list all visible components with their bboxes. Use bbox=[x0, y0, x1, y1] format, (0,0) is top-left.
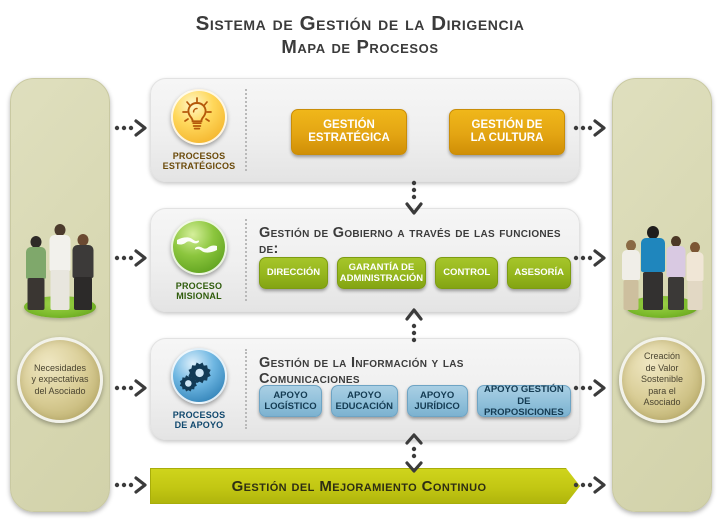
badge-line: Creación bbox=[641, 351, 683, 363]
down-dotted-arrow bbox=[403, 178, 425, 220]
band-misional-process: PROCESO MISIONAL Gestión de Gobierno a t… bbox=[150, 208, 580, 312]
band-strategic-caption: PROCESOS ESTRATÉGICOS bbox=[163, 151, 236, 172]
pill-line: LOGÍSTICO bbox=[264, 401, 316, 412]
band-support-content: Gestión de la Información y las Comunica… bbox=[253, 339, 571, 439]
caption-line: DE APOYO bbox=[173, 420, 226, 430]
title-line-1: Sistema de Gestión de la Dirigencia bbox=[0, 12, 720, 36]
strategic-pill-row: GESTIÓN ESTRATÉGICA GESTIÓN DE LA CULTUR… bbox=[259, 109, 571, 155]
up-dotted-arrow bbox=[403, 303, 425, 345]
pill-line: ESTRATÉGICA bbox=[308, 132, 390, 145]
person-figure bbox=[685, 242, 704, 310]
pill-line: DE PROPOSICIONES bbox=[478, 396, 570, 418]
caption-line: PROCESOS bbox=[163, 151, 236, 161]
pill-line: APOYO bbox=[335, 390, 393, 401]
pill-line: ADMINISTRACIÓN bbox=[340, 273, 423, 284]
improvement-bar: Gestión del Mejoramiento Continuo bbox=[150, 468, 580, 504]
person-figure bbox=[621, 240, 641, 310]
pill-line: JURÍDICO bbox=[414, 401, 459, 412]
band-misional-caption: PROCESO MISIONAL bbox=[176, 281, 222, 302]
pill-apoyo-educacion[interactable]: APOYO EDUCACIÓN bbox=[331, 385, 398, 417]
handshake-icon bbox=[171, 219, 227, 275]
pill-line: GARANTÍA DE bbox=[340, 262, 423, 273]
pill-direccion[interactable]: DIRECCIÓN bbox=[259, 257, 328, 289]
support-pill-row: APOYO LOGÍSTICO APOYO EDUCACIÓN APOYO JU… bbox=[259, 385, 571, 417]
pill-control[interactable]: CONTROL bbox=[435, 257, 499, 289]
person-figure bbox=[25, 236, 47, 310]
pill-garantia-de-administracion[interactable]: GARANTÍA DE ADMINISTRACIÓN bbox=[337, 257, 426, 289]
pill-line: APOYO bbox=[264, 390, 316, 401]
pill-line: CONTROL bbox=[443, 267, 490, 278]
pill-asesoria[interactable]: ASESORÍA bbox=[507, 257, 571, 289]
pill-line: ASESORÍA bbox=[514, 267, 564, 278]
band-strategic-label-area: PROCESOS ESTRATÉGICOS bbox=[151, 79, 247, 181]
caption-line: ESTRATÉGICOS bbox=[163, 161, 236, 171]
badge-line: Asociado bbox=[641, 397, 683, 409]
person-figure bbox=[71, 234, 94, 310]
outbound-arrow-improvement bbox=[571, 474, 611, 496]
pill-line: DIRECCIÓN bbox=[267, 267, 320, 278]
pill-line: LA CULTURA bbox=[471, 132, 544, 145]
caption-line: MISIONAL bbox=[176, 291, 222, 301]
lightbulb-icon bbox=[171, 89, 227, 145]
pill-line: APOYO GESTIÓN bbox=[478, 384, 570, 395]
badge-line: y expectativas bbox=[31, 374, 88, 386]
inbound-arrow-improvement bbox=[112, 474, 152, 496]
gears-icon bbox=[171, 348, 227, 404]
badge-line: del Asociado bbox=[31, 386, 88, 398]
page-title: Sistema de Gestión de la Dirigencia Mapa… bbox=[0, 12, 720, 57]
people-group-icon bbox=[11, 204, 109, 324]
misional-heading: Gestión de Gobierno a través de las func… bbox=[259, 225, 567, 257]
band-strategic-processes: PROCESOS ESTRATÉGICOS GESTIÓN ESTRATÉGIC… bbox=[150, 78, 580, 182]
up-down-dotted-arrow bbox=[403, 432, 425, 474]
right-badge: Creación de Valor Sostenible para el Aso… bbox=[619, 337, 705, 423]
badge-line: para el bbox=[641, 386, 683, 398]
right-output-panel: Creación de Valor Sostenible para el Aso… bbox=[612, 78, 712, 512]
improvement-bar-label: Gestión del Mejoramiento Continuo bbox=[232, 478, 487, 495]
outbound-arrow-strategic bbox=[571, 117, 611, 139]
outbound-arrow-support bbox=[571, 377, 611, 399]
band-strategic-content: GESTIÓN ESTRATÉGICA GESTIÓN DE LA CULTUR… bbox=[253, 79, 571, 181]
band-support-label-area: PROCESOS DE APOYO bbox=[151, 339, 247, 439]
person-figure bbox=[48, 224, 72, 310]
misional-pill-row: DIRECCIÓN GARANTÍA DE ADMINISTRACIÓN CON… bbox=[259, 257, 571, 289]
left-input-panel: Necesidades y expectativas del Asociado bbox=[10, 78, 110, 512]
band-misional-label-area: PROCESO MISIONAL bbox=[151, 209, 247, 311]
pill-line: GESTIÓN DE bbox=[471, 119, 544, 132]
caption-line: PROCESO bbox=[176, 281, 222, 291]
pill-apoyo-gestion-de-proposiciones[interactable]: APOYO GESTIÓN DE PROPOSICIONES bbox=[477, 385, 571, 417]
badge-line: de Valor bbox=[641, 363, 683, 375]
person-figure bbox=[640, 226, 666, 310]
left-badge: Necesidades y expectativas del Asociado bbox=[17, 337, 103, 423]
title-line-2: Mapa de Procesos bbox=[0, 36, 720, 57]
badge-line: Necesidades bbox=[31, 363, 88, 375]
pill-apoyo-logistico[interactable]: APOYO LOGÍSTICO bbox=[259, 385, 322, 417]
band-support-caption: PROCESOS DE APOYO bbox=[173, 410, 226, 431]
inbound-arrow-misional bbox=[112, 247, 152, 269]
band-misional-content: Gestión de Gobierno a través de las func… bbox=[253, 209, 571, 311]
pill-line: APOYO bbox=[414, 390, 459, 401]
people-group-icon bbox=[613, 204, 711, 324]
person-figure bbox=[665, 236, 686, 310]
caption-line: PROCESOS bbox=[173, 410, 226, 420]
inbound-arrow-strategic bbox=[112, 117, 152, 139]
pill-line: GESTIÓN bbox=[308, 119, 390, 132]
pill-line: EDUCACIÓN bbox=[335, 401, 393, 412]
pill-apoyo-juridico[interactable]: APOYO JURÍDICO bbox=[407, 385, 468, 417]
support-heading: Gestión de la Información y las Comunica… bbox=[259, 355, 567, 387]
pill-gestion-de-la-cultura[interactable]: GESTIÓN DE LA CULTURA bbox=[449, 109, 565, 155]
outbound-arrow-misional bbox=[571, 247, 611, 269]
badge-line: Sostenible bbox=[641, 374, 683, 386]
band-support-processes: PROCESOS DE APOYO Gestión de la Informac… bbox=[150, 338, 580, 440]
pill-gestion-estrategica[interactable]: GESTIÓN ESTRATÉGICA bbox=[291, 109, 407, 155]
inbound-arrow-support bbox=[112, 377, 152, 399]
